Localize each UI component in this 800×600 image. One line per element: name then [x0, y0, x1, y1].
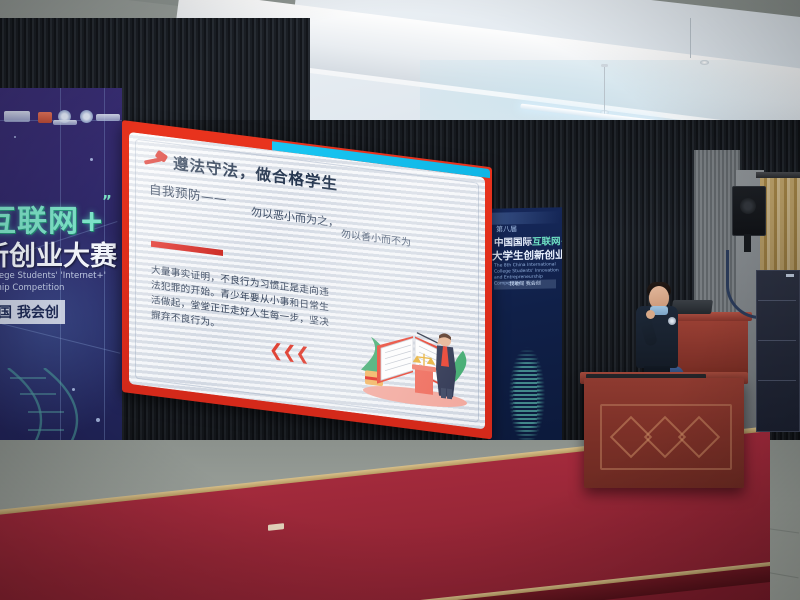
- police-badge-icon: [668, 317, 676, 325]
- banner-right-edition: 第八届: [496, 224, 517, 234]
- pendant-wire: [690, 18, 691, 58]
- banner-left-title-en: l College Students' 'Internet+' eurship …: [0, 270, 122, 294]
- banner-left-title-cn2: 新创业大赛: [0, 234, 117, 273]
- loudspeaker-cone-icon: [740, 198, 756, 214]
- banner-left-slogan-tag: 国 我会创: [0, 300, 65, 324]
- banner-sponsor-logos: [0, 106, 122, 128]
- rack-panel-line: [758, 380, 796, 381]
- auditorium-scene: 互联网+ ” 新创业大赛 l College Students' 'Intern…: [0, 0, 800, 600]
- sponsor-logo-icon: [80, 110, 93, 123]
- banner-left-title-en-line2: eurship Competition: [0, 282, 122, 294]
- downlight-icon: [700, 60, 709, 65]
- banner-right-internet-plus: 第八届 中国国际互联网+ 大学生创新创业大赛 The 8th China Int…: [488, 207, 562, 477]
- av-equipment-rack: [756, 270, 800, 432]
- banner-right-main-pre: 中国国际: [494, 237, 532, 249]
- sponsor-logo-icon: [4, 111, 30, 122]
- slide-content: 遵法守法，做合格学生 自我预防—— 勿以恶小而为之， 勿以善小而不为 大量事实证…: [129, 132, 485, 430]
- banner-right-top-glow: [490, 211, 560, 224]
- banner-left-quote-mark: ”: [102, 192, 112, 210]
- curtain-rail: [756, 172, 800, 178]
- banner-right-slogan: 我敢闯 我会创: [494, 279, 556, 289]
- slide-glare: [129, 132, 485, 430]
- pendant-cap: [601, 64, 608, 67]
- banner-left-title-en-line1: l College Students' 'Internet+': [0, 270, 122, 282]
- speaker-hand: [646, 310, 655, 319]
- sponsor-logo-icon: [96, 114, 120, 121]
- banner-decor-dot: [90, 158, 93, 161]
- sponsor-logo-icon: [38, 112, 52, 123]
- presentation-screen[interactable]: 遵法守法，做合格学生 自我预防—— 勿以恶小而为之， 勿以善小而不为 大量事实证…: [122, 120, 492, 445]
- banner-right-sub-line: 大学生创新创业大赛: [492, 247, 562, 264]
- banner-right-main-accent: 互联网+: [532, 236, 562, 248]
- banner-right-main-line: 中国国际互联网+: [494, 233, 562, 249]
- banner-decor-dot: [14, 136, 16, 138]
- rack-panel-line: [758, 300, 796, 301]
- rack-led-icon: [786, 274, 794, 277]
- pendant-wire: [604, 66, 605, 114]
- rack-panel-line: [758, 340, 796, 341]
- banner-left-internet-plus: 互联网+ ” 新创业大赛 l College Students' 'Intern…: [0, 88, 122, 492]
- sponsor-logo-icon: [53, 120, 77, 125]
